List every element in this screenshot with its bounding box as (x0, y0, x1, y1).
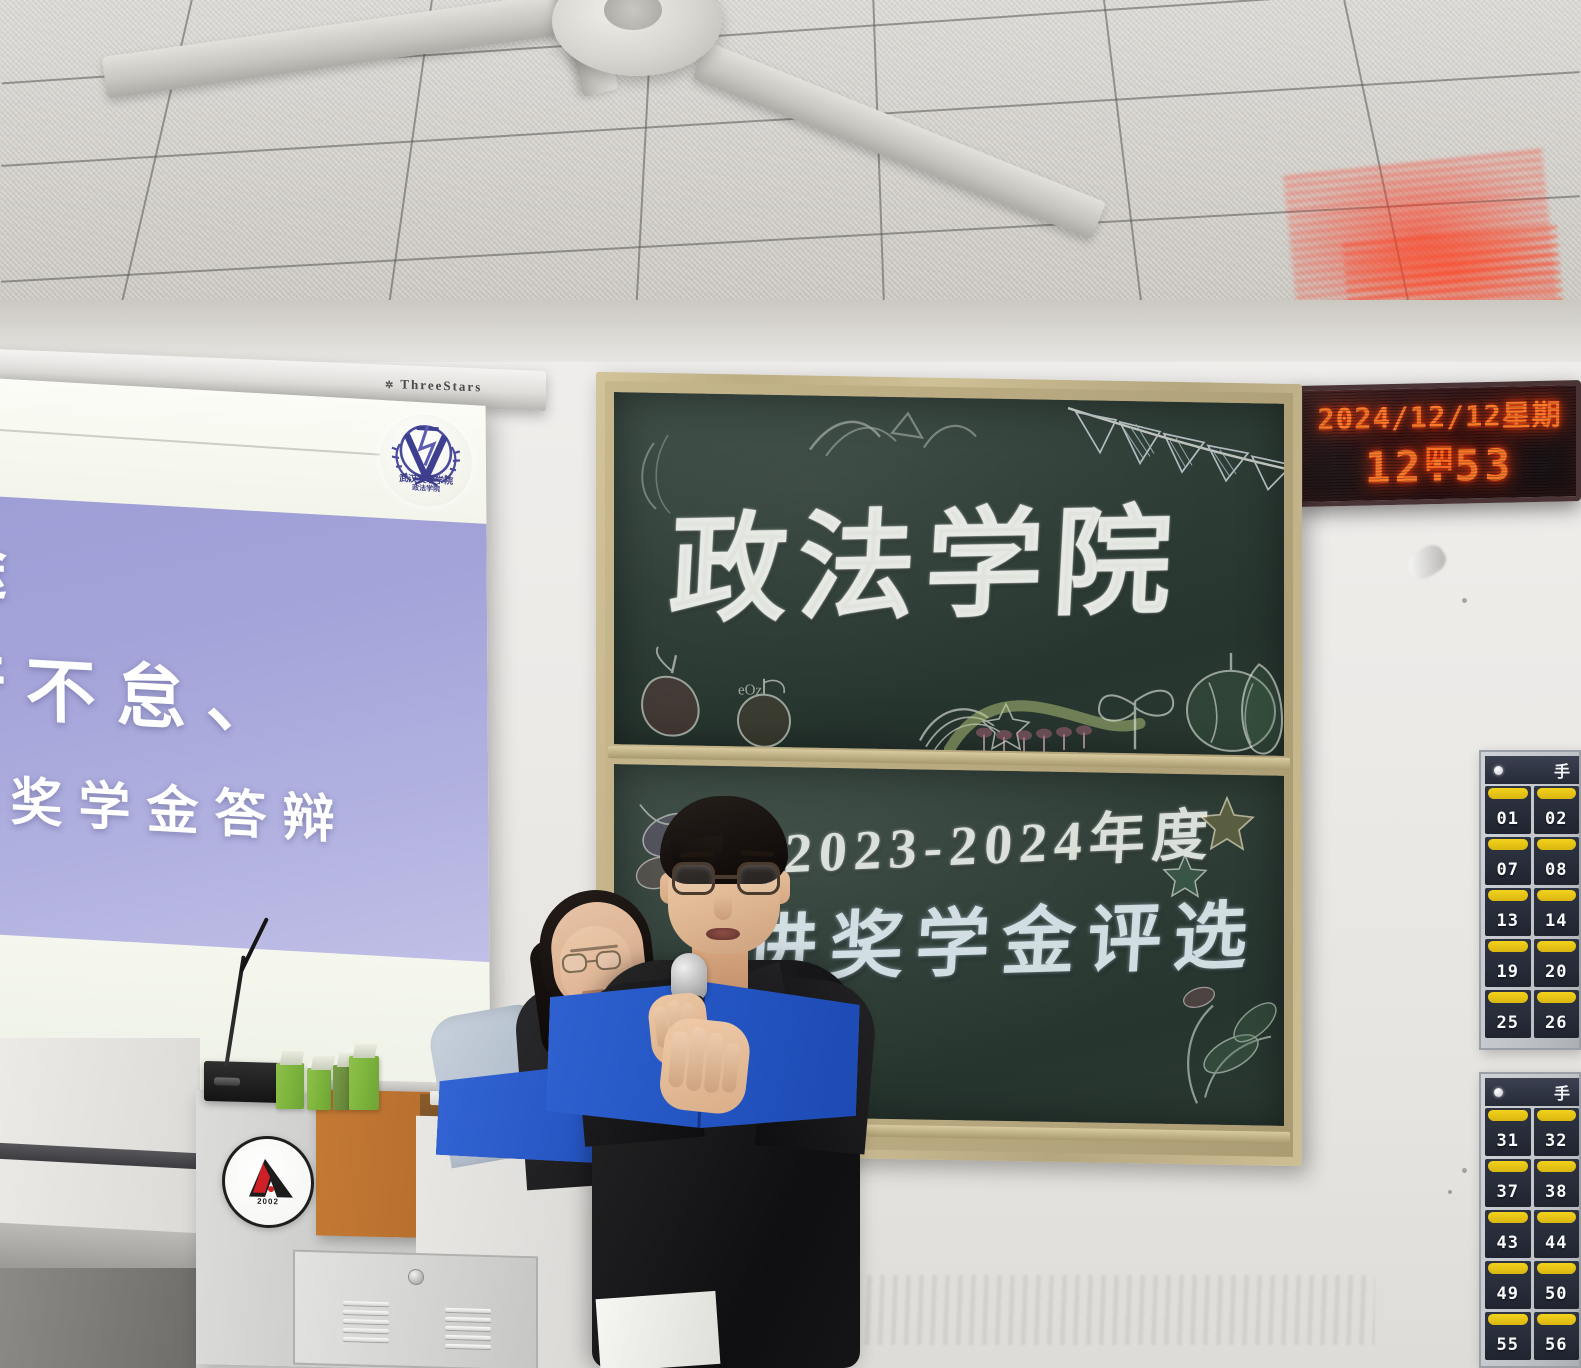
blackboard-upper-panel: 政法学院 eOz (614, 392, 1284, 756)
locker-header-label: 手 (1554, 758, 1570, 782)
locker-header: 手 (1485, 756, 1579, 784)
classroom-photo: 2024/12/12星期四 12:53 (0, 0, 1581, 1368)
locker-cell[interactable]: 20 (1534, 939, 1580, 987)
locker-cell[interactable]: 31 (1485, 1108, 1531, 1156)
beverage-carton (307, 1068, 331, 1110)
locker-cell-grid: 31 32 37 38 43 44 49 50 55 56 (1485, 1108, 1579, 1360)
locker-cell[interactable]: 13 (1485, 888, 1531, 936)
locker-cell[interactable]: 01 (1485, 786, 1531, 834)
locker-cell[interactable]: 50 (1534, 1261, 1580, 1309)
locker-number: 01 (1497, 809, 1519, 829)
beverage-carton (333, 1065, 349, 1110)
slide-line-2: 行不怠、 (0, 629, 296, 750)
finger (721, 1042, 740, 1093)
locker-number: 19 (1497, 962, 1519, 982)
wall-dot (1448, 1190, 1452, 1194)
locker-cell-grid: 01 02 07 08 13 14 19 20 25 26 (1485, 786, 1579, 1038)
finger (668, 1031, 689, 1088)
chalk-leaf-cluster-decor (1159, 949, 1284, 1111)
locker-cell[interactable]: 26 (1534, 990, 1580, 1038)
locker-number: 20 (1545, 962, 1567, 982)
speaker-glasses-icon (672, 862, 780, 896)
locker-number: 50 (1545, 1284, 1567, 1304)
locker-number: 56 (1545, 1335, 1567, 1355)
chalk-gourd-decor (1232, 658, 1284, 756)
locker-cell[interactable]: 37 (1485, 1159, 1531, 1207)
locker-cell[interactable]: 08 (1534, 837, 1580, 885)
school-logo-slide: 武汉文理学院 政法学院 (380, 412, 473, 509)
chalk-vegetable-decor: eOz (724, 672, 819, 754)
locker-cell[interactable]: 43 (1485, 1210, 1531, 1258)
chalk-star-decor (1162, 852, 1208, 899)
slide-line-1: 途 (0, 517, 21, 613)
slide-body: 途 行不怠、 进奖学金答辩 (0, 496, 489, 964)
phone-locker-panel-top[interactable]: 手 01 02 07 08 13 14 19 20 25 26 (1479, 750, 1581, 1050)
wall-dot (1462, 598, 1467, 603)
locker-number: 38 (1545, 1182, 1567, 1202)
locker-cell[interactable]: 38 (1534, 1159, 1580, 1207)
locker-number: 32 (1545, 1131, 1567, 1151)
cabinet-vent (445, 1308, 491, 1349)
svg-text:eOz: eOz (738, 682, 762, 698)
locker-number: 37 (1497, 1182, 1519, 1202)
locker-number: 13 (1497, 911, 1519, 931)
blackboard-title-text: 政法学院 (666, 465, 1187, 645)
gooseneck-mic-base (204, 1061, 284, 1103)
locker-cell[interactable]: 25 (1485, 990, 1531, 1038)
locker-cell[interactable]: 19 (1485, 939, 1531, 987)
folder-paper-sheet (596, 1291, 721, 1368)
locker-number: 26 (1545, 1013, 1567, 1033)
chalk-star-decor (1199, 794, 1255, 851)
locker-cell[interactable]: 49 (1485, 1261, 1531, 1309)
locker-number: 02 (1545, 809, 1567, 829)
led-clock-display: 2024/12/12星期四 12:53 (1298, 380, 1581, 507)
chalk-swirl-decor (804, 405, 984, 478)
locker-cell[interactable]: 07 (1485, 837, 1531, 885)
locker-cell[interactable]: 02 (1534, 786, 1580, 834)
beverage-carton (349, 1056, 379, 1110)
speaker-hand-right (657, 1016, 752, 1116)
locker-indicator-dot (1494, 766, 1503, 775)
locker-header: 手 (1485, 1078, 1579, 1106)
seal-ring-text (229, 1142, 307, 1222)
wall-upper-band (0, 300, 1581, 362)
wall-dot (1462, 1168, 1467, 1173)
blackboard-year-text: 2023-2024年度 (782, 789, 1218, 889)
cabinet-vent (343, 1301, 389, 1342)
phone-locker-panel-bottom[interactable]: 手 31 32 37 38 43 44 49 50 55 56 (1479, 1072, 1581, 1368)
locker-number: 44 (1545, 1233, 1567, 1253)
locker-number: 49 (1497, 1284, 1519, 1304)
locker-number: 14 (1545, 911, 1567, 931)
podium-cabinet[interactable] (293, 1250, 538, 1368)
university-seal: 2002 (222, 1135, 314, 1229)
locker-cell[interactable]: 56 (1534, 1312, 1580, 1360)
slide-line-3: 进奖学金答辩 (0, 755, 351, 853)
floor-shadow-area (0, 1268, 196, 1368)
locker-number: 08 (1545, 860, 1567, 880)
locker-cell[interactable]: 14 (1534, 888, 1580, 936)
locker-header-label: 手 (1554, 1080, 1570, 1104)
locker-cell[interactable]: 32 (1534, 1108, 1580, 1156)
speaker-mouth (706, 928, 740, 940)
locker-number: 31 (1497, 1131, 1519, 1151)
slide-divider-line (0, 427, 406, 457)
locker-number: 43 (1497, 1233, 1519, 1253)
locker-cell[interactable]: 55 (1485, 1312, 1531, 1360)
led-time-text: 12:53 (1303, 439, 1576, 495)
speaker-nose (714, 896, 732, 920)
cabinet-lock-icon[interactable] (408, 1269, 424, 1285)
locker-number: 55 (1497, 1335, 1519, 1355)
locker-cell[interactable]: 44 (1534, 1210, 1580, 1258)
projection-screen: 武汉文理学院 政法学院 途 行不怠、 进奖学金答辩 答辩人：艾天宇 (0, 378, 490, 1106)
locker-indicator-dot (1494, 1088, 1503, 1097)
locker-number: 25 (1497, 1013, 1519, 1033)
locker-number: 07 (1497, 860, 1519, 880)
projector-brand-label: ThreeStars (385, 376, 482, 396)
left-wall-section (0, 1038, 200, 1234)
wall-scuff-marks (815, 1275, 1375, 1345)
beverage-carton (276, 1063, 304, 1109)
